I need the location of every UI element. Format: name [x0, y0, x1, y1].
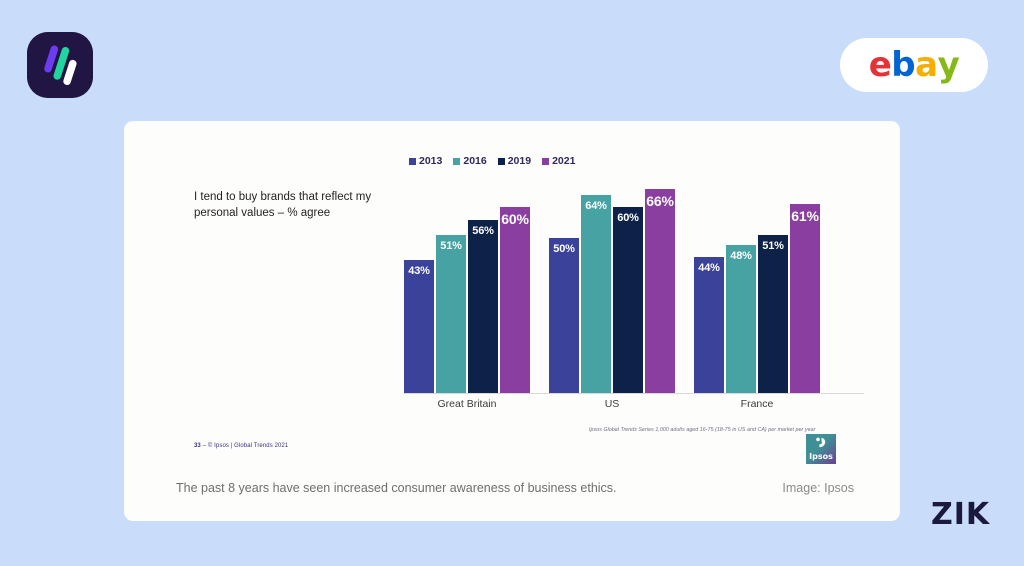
slide-page-number: 33 — [194, 443, 201, 449]
category-label-us: US — [549, 398, 675, 410]
bar-france-2016[interactable]: 48% — [726, 245, 756, 393]
bar-group-us: 50%64%60%66% — [549, 161, 675, 393]
bar-value-label: 64% — [581, 200, 611, 212]
bar-value-label: 51% — [436, 240, 466, 252]
ebay-logo-icon: ebay — [869, 48, 960, 82]
image-credit: Image: Ipsos — [782, 481, 854, 495]
ebay-logo-badge[interactable]: ebay — [840, 38, 988, 92]
bar-value-label: 60% — [500, 211, 530, 227]
bar-value-label: 66% — [645, 193, 675, 209]
ipsos-chart-slide: I tend to buy brands that reflect my per… — [124, 121, 900, 469]
chart-question-title: I tend to buy brands that reflect my per… — [194, 190, 394, 221]
ipsos-logo: Ipsos — [806, 434, 836, 464]
slide-copyright-text: – © Ipsos | Global Trends 2021 — [203, 443, 289, 449]
ebay-letter-a: a — [915, 48, 937, 82]
bar-great-britain-2021[interactable]: 60% — [500, 207, 530, 393]
slide-card: I tend to buy brands that reflect my per… — [124, 121, 900, 521]
chart-axis-line — [404, 393, 864, 394]
bar-great-britain-2013[interactable]: 43% — [404, 260, 434, 393]
slide-source-note: Ipsos Global Trends Series 1,000 adults … — [589, 427, 815, 433]
slide-footnote: 33 – © Ipsos | Global Trends 2021 — [194, 443, 288, 449]
brand-slashes-icon — [27, 32, 93, 98]
bar-group-great-britain: 43%51%56%60% — [404, 161, 530, 393]
bar-great-britain-2016[interactable]: 51% — [436, 235, 466, 393]
bar-value-label: 50% — [549, 243, 579, 255]
caption-row: The past 8 years have seen increased con… — [124, 477, 900, 507]
bar-value-label: 51% — [758, 240, 788, 252]
category-label-great-britain: Great Britain — [404, 398, 530, 410]
bar-value-label: 48% — [726, 250, 756, 262]
ipsos-logo-label: Ipsos — [809, 452, 833, 464]
zik-wordmark: ZIK — [931, 500, 990, 530]
category-label-france: France — [694, 398, 820, 410]
bar-us-2019[interactable]: 60% — [613, 207, 643, 393]
bar-france-2019[interactable]: 51% — [758, 235, 788, 393]
bar-france-2021[interactable]: 61% — [790, 204, 820, 393]
bar-group-france: 44%48%51%61% — [694, 161, 820, 393]
bar-great-britain-2019[interactable]: 56% — [468, 220, 498, 393]
ebay-letter-b: b — [891, 48, 915, 82]
bar-us-2016[interactable]: 64% — [581, 195, 611, 393]
slide-caption: The past 8 years have seen increased con… — [176, 481, 617, 495]
ebay-letter-y: y — [938, 48, 960, 82]
ipsos-mark-icon — [815, 437, 827, 452]
bar-value-label: 44% — [694, 262, 724, 274]
zik-brand-logo[interactable] — [27, 32, 93, 98]
chart-category-labels: Great BritainUSFrance — [404, 398, 864, 414]
bar-us-2013[interactable]: 50% — [549, 238, 579, 393]
chart-plot-area: 43%51%56%60%50%64%60%66%44%48%51%61% — [404, 161, 864, 393]
bar-france-2013[interactable]: 44% — [694, 257, 724, 393]
bar-value-label: 43% — [404, 265, 434, 277]
bar-us-2021[interactable]: 66% — [645, 189, 675, 393]
ebay-letter-e: e — [869, 48, 892, 82]
bar-value-label: 61% — [790, 208, 820, 224]
bar-value-label: 60% — [613, 212, 643, 224]
bar-value-label: 56% — [468, 225, 498, 237]
